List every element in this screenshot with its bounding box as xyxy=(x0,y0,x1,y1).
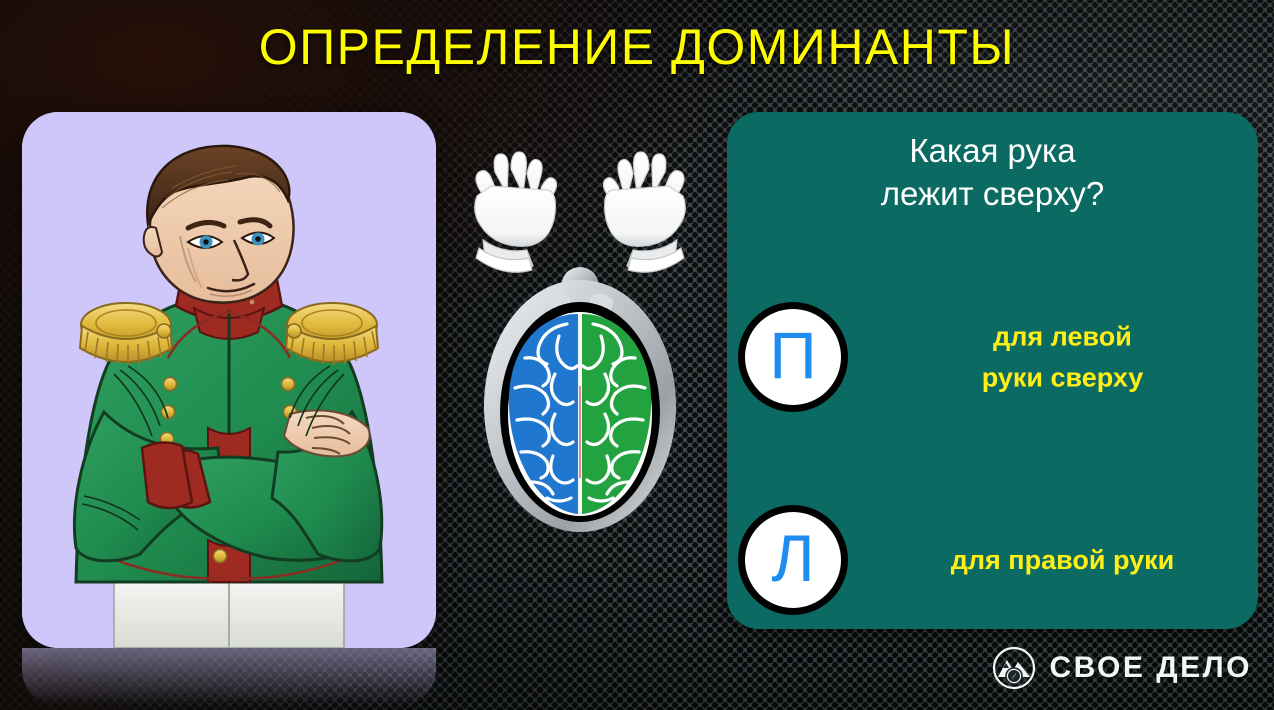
option-p-line-2: руки сверху xyxy=(877,357,1248,398)
badge-l[interactable]: Л xyxy=(738,505,848,615)
head-top-view xyxy=(484,267,676,532)
brand-logo-text: СВОЕ ДЕЛО xyxy=(1049,653,1252,683)
brain-hands-illustration xyxy=(455,150,705,550)
badge-p[interactable]: П xyxy=(738,302,848,412)
option-row-l[interactable]: Л для правой руки xyxy=(727,505,1258,615)
option-row-p[interactable]: П для левой руки сверху xyxy=(727,302,1258,412)
option-p-text: для левой руки сверху xyxy=(877,317,1248,398)
napoleon-crossed-arms-illustration xyxy=(22,112,436,648)
slide-title: ОПРЕДЕЛЕНИЕ ДОМИНАНТЫ xyxy=(0,19,1274,75)
option-l-text: для правой руки xyxy=(877,540,1248,581)
slide-root: ОПРЕДЕЛЕНИЕ ДОМИНАНТЫ xyxy=(0,0,1274,710)
option-p-line-1: для левой xyxy=(877,317,1248,358)
question-line-1: Какая рука xyxy=(767,130,1218,173)
glove-left xyxy=(475,152,557,272)
panel-question: Какая рука лежит сверху? xyxy=(727,130,1258,216)
brand-logo[interactable]: СВОЕ ДЕЛО xyxy=(992,646,1252,690)
badge-p-letter: П xyxy=(769,322,816,388)
badge-l-letter: Л xyxy=(771,525,814,591)
napoleon-card-reflection xyxy=(22,648,436,706)
mountain-compass-emblem xyxy=(992,646,1036,690)
question-panel: Какая рука лежит сверху? П для левой рук… xyxy=(727,112,1258,629)
napoleon-card xyxy=(22,112,436,648)
glove-right xyxy=(603,152,685,272)
question-line-2: лежит сверху? xyxy=(767,173,1218,216)
option-l-line-1: для правой руки xyxy=(877,540,1248,581)
